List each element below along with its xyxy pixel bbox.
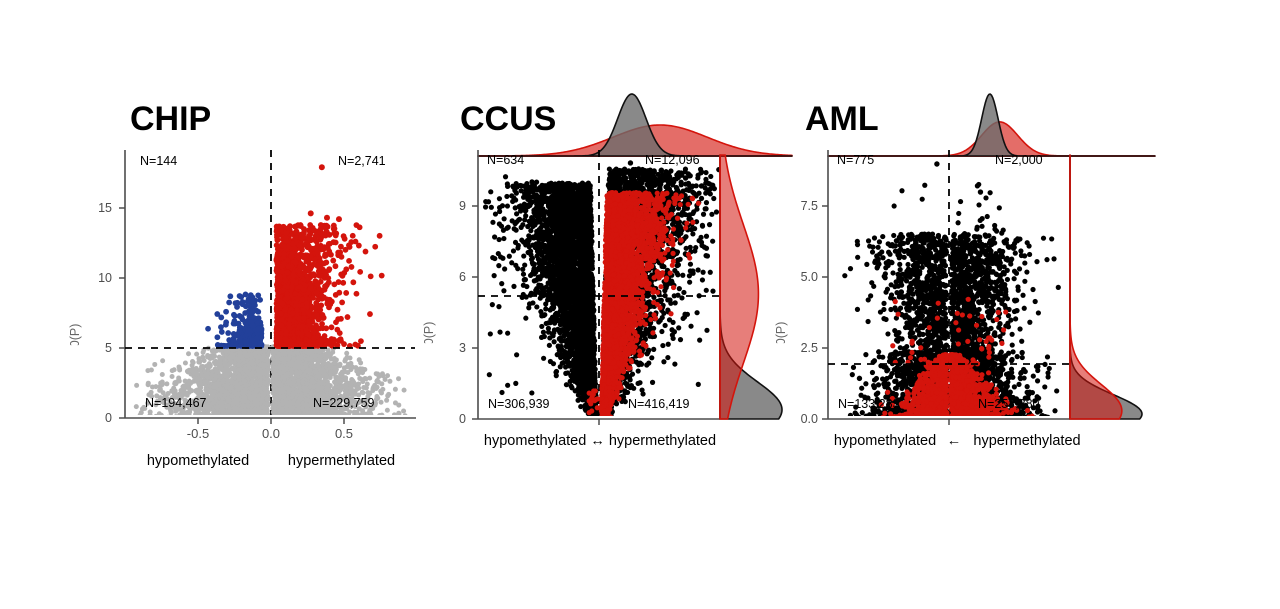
count-bottom-right-ccus: N=416,419 xyxy=(628,397,690,411)
y-tick-25-aml: 2.5 xyxy=(778,341,818,355)
points-blue-chip xyxy=(205,292,264,349)
count-top-left-ccus: N=634 xyxy=(487,153,524,167)
plot-area-aml: -log10(P) 0.0 2.5 5.0 7.5 N=775 N=2,000 … xyxy=(780,145,1180,445)
y-tick-marks-ccus xyxy=(472,206,478,419)
y-tick-6-ccus: 6 xyxy=(428,270,466,284)
count-bottom-right-aml: N=257,380 xyxy=(978,397,1040,411)
x-tick-05-chip: 0.5 xyxy=(319,426,369,441)
panel-aml: AML xyxy=(780,0,1180,609)
y-tick-15-chip: 15 xyxy=(74,201,112,215)
y-tick-10-chip: 10 xyxy=(74,271,112,285)
figure-canvas: CHIP xyxy=(0,0,1280,609)
plot-area-ccus: -log10(P) 0 3 6 9 N=634 N=12,096 N=306,9… xyxy=(420,145,800,445)
x-axis-label-hypo-chip: hypomethylated xyxy=(143,453,253,469)
count-bottom-left-ccus: N=306,939 xyxy=(488,397,550,411)
panel-chip: CHIP xyxy=(60,0,460,609)
count-bottom-left-aml: N=133,283 xyxy=(838,397,900,411)
count-top-right-chip: N=2,741 xyxy=(338,154,386,168)
count-top-left-chip: N=144 xyxy=(140,154,177,168)
y-tick-0-chip: 0 xyxy=(74,411,112,425)
x-tick-0-chip: 0.0 xyxy=(246,426,296,441)
count-bottom-right-chip: N=229,759 xyxy=(313,396,375,410)
points-red-chip xyxy=(274,164,385,349)
count-top-right-ccus: N=12,096 xyxy=(645,153,700,167)
x-axis-label-hyper-chip: hypermethylated xyxy=(279,453,404,469)
y-tick-5-chip: 5 xyxy=(74,341,112,355)
y-tick-75-aml: 7.5 xyxy=(778,199,818,213)
y-tick-3-ccus: 3 xyxy=(428,341,466,355)
y-tick-0-ccus: 0 xyxy=(428,412,466,426)
count-top-right-aml: N=2,000 xyxy=(995,153,1043,167)
y-tick-9-ccus: 9 xyxy=(428,199,466,213)
y-tick-00-aml: 0.0 xyxy=(778,412,818,426)
x-tick-marks-chip xyxy=(198,418,344,424)
panel-title-chip: CHIP xyxy=(130,100,211,139)
y-tick-marks-aml xyxy=(822,206,828,419)
panel-ccus: CCUS xyxy=(420,0,800,609)
marginal-density-right-aml xyxy=(1062,145,1152,445)
x-axis-label-hypo-aml: hypomethylated xyxy=(820,433,950,449)
x-axis-label-ccus: hypomethylated ↔ hypermethylated xyxy=(465,433,735,449)
x-tick-neg05-chip: -0.5 xyxy=(173,426,223,441)
y-tick-marks-chip xyxy=(119,208,125,418)
plot-area-chip: -log10(P) 0 5 10 15 N=144 N=2,741 N=194,… xyxy=(60,145,460,445)
y-tick-50-aml: 5.0 xyxy=(778,270,818,284)
count-bottom-left-chip: N=194,467 xyxy=(145,396,207,410)
count-top-left-aml: N=775 xyxy=(837,153,874,167)
scatter-svg-chip xyxy=(60,145,460,445)
x-axis-label-hyper-aml: hypermethylated xyxy=(957,433,1097,449)
